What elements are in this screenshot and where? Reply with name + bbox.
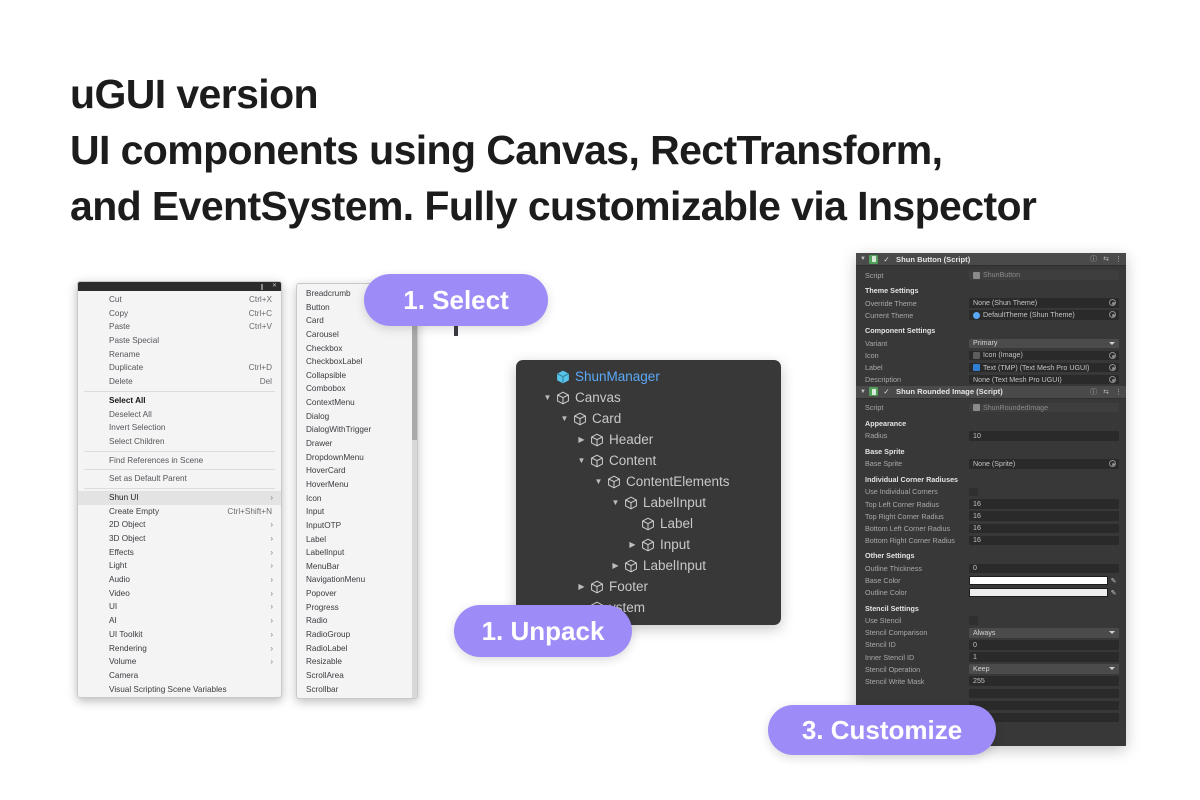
property-value[interactable]	[969, 689, 1119, 699]
object-picker-icon[interactable]	[1109, 299, 1116, 306]
menu-item-paste[interactable]: PasteCtrl+V	[78, 320, 281, 334]
property-row: LabelText (TMP) (Text Mesh Pro UGUI)	[856, 361, 1126, 373]
twisty-open-icon[interactable]: ▼	[860, 389, 869, 395]
menu-item-label: Set as Default Parent	[109, 474, 187, 483]
property-value[interactable]: Text (TMP) (Text Mesh Pro UGUI)	[969, 363, 1119, 373]
submenu-items: BreadcrumbButtonCardCarouselCheckboxChec…	[297, 284, 417, 699]
twisty-closed-icon[interactable]: ▶	[609, 555, 622, 576]
menu-item-label: 3D Object	[109, 534, 145, 543]
submenu-item-dialog[interactable]: Dialog	[297, 410, 417, 424]
chevron-down-icon[interactable]	[1109, 631, 1115, 634]
preset-icon[interactable]: ⇆	[1103, 388, 1109, 396]
property-value[interactable]: 1	[969, 652, 1119, 662]
object-picker-icon[interactable]	[1109, 311, 1116, 318]
object-picker-icon[interactable]	[1109, 460, 1116, 467]
submenu-item-popover[interactable]: Popover	[297, 587, 417, 601]
section-header: Other Settings	[856, 550, 1126, 562]
menu-item-set-as-default-parent[interactable]: Set as Default Parent	[78, 472, 281, 486]
property-value[interactable]: Icon (Image)	[969, 351, 1119, 361]
property-label: Icon	[865, 351, 969, 360]
menu-item-camera[interactable]: Camera	[78, 669, 281, 683]
menu-item-shortcut: Ctrl+C	[249, 307, 272, 321]
property-row: Base Color✎	[856, 575, 1126, 587]
hierarchy-row[interactable]: ▶LabelInput	[516, 555, 781, 576]
property-value[interactable]: 0	[969, 640, 1119, 650]
component-title: Shun Button (Script)	[896, 255, 970, 264]
hierarchy-row-label: Footer	[605, 576, 648, 597]
component-enabled-checkbox[interactable]: ✓	[882, 387, 891, 396]
hierarchy-row[interactable]: ShunManager	[516, 366, 781, 387]
menu-item-visual-scripting-scene-variables[interactable]: Visual Scripting Scene Variables	[78, 683, 281, 697]
menu-item-ai[interactable]: AI›	[78, 614, 281, 628]
context-menu-titlebar: ✕	[78, 282, 281, 291]
twisty-open-icon[interactable]: ▼	[575, 450, 588, 471]
chevron-right-icon: ›	[270, 518, 273, 532]
badge-select-label: 1. Select	[403, 285, 509, 316]
property-value-text: Primary	[973, 339, 997, 347]
menu-item-label: Select All	[109, 396, 146, 405]
shun-ui-submenu[interactable]: BreadcrumbButtonCardCarouselCheckboxChec…	[296, 283, 418, 699]
property-row: ScriptShunRoundedImage	[856, 402, 1126, 414]
submenu-item-resizable[interactable]: Resizable	[297, 655, 417, 669]
menu-item-duplicate[interactable]: DuplicateCtrl+D	[78, 361, 281, 375]
menu-item-shortcut: Ctrl+X	[249, 293, 272, 307]
menu-separator	[84, 451, 275, 452]
headline-line-1: uGUI version	[70, 66, 1150, 122]
hierarchy-row[interactable]: ▼Canvas	[516, 387, 781, 408]
chevron-down-icon[interactable]	[1109, 342, 1115, 345]
property-label: Stencil Operation	[865, 665, 969, 674]
menu-item-deselect-all[interactable]: Deselect All	[78, 408, 281, 422]
submenu-item-contextmenu[interactable]: ContextMenu	[297, 396, 417, 410]
submenu-item-labelinput[interactable]: LabelInput	[297, 546, 417, 560]
script-icon	[973, 404, 980, 411]
menu-item-select-children[interactable]: Select Children	[78, 435, 281, 449]
property-label: Stencil Comparison	[865, 628, 969, 637]
menu-item-label: UI Toolkit	[109, 630, 143, 639]
component-enabled-checkbox[interactable]: ✓	[882, 255, 891, 264]
menu-item-label: Shun UI	[109, 493, 139, 502]
property-value-text: Icon (Image)	[983, 351, 1023, 359]
property-checkbox[interactable]	[969, 488, 978, 497]
context-menu-items: CutCtrl+XCopyCtrl+CPasteCtrl+VPaste Spec…	[78, 291, 281, 696]
section-header: Stencil Settings	[856, 603, 1126, 615]
gameobject-cube-icon	[554, 391, 571, 405]
property-label: Top Left Corner Radius	[865, 500, 969, 509]
headline-line-2: UI components using Canvas, RectTransfor…	[70, 122, 1150, 178]
menu-item-effects[interactable]: Effects›	[78, 546, 281, 560]
submenu-item-navigationmenu[interactable]: NavigationMenu	[297, 573, 417, 587]
submenu-item-collapsible[interactable]: Collapsible	[297, 369, 417, 383]
property-label: Inner Stencil ID	[865, 653, 969, 662]
chevron-right-icon: ›	[270, 491, 273, 505]
more-options-icon[interactable]: ⋮	[1115, 388, 1122, 396]
object-picker-icon[interactable]	[1109, 352, 1116, 359]
submenu-item-checkboxlabel[interactable]: CheckboxLabel	[297, 355, 417, 369]
eyedropper-icon[interactable]: ✎	[1108, 589, 1119, 597]
component-body: ScriptShunButtonTheme SettingsOverride T…	[856, 266, 1126, 386]
drag-handle-icon[interactable]	[261, 284, 263, 290]
property-label: Bottom Left Corner Radius	[865, 524, 969, 533]
property-row: Inner Stencil ID1	[856, 651, 1126, 663]
property-value[interactable]: 10	[969, 431, 1119, 441]
badge-customize-label: 3. Customize	[802, 715, 962, 746]
more-options-icon[interactable]: ⋮	[1115, 255, 1122, 263]
badge-unpack: 1. Unpack	[454, 605, 632, 657]
property-label: Top Right Corner Radius	[865, 512, 969, 521]
color-swatch[interactable]	[969, 576, 1108, 585]
property-value[interactable]: ShunButton	[969, 270, 1119, 280]
property-value-text: 1	[973, 653, 977, 661]
submenu-item-hovercard[interactable]: HoverCard	[297, 464, 417, 478]
menu-item-cut[interactable]: CutCtrl+X	[78, 293, 281, 307]
property-value[interactable]: 16	[969, 499, 1119, 509]
gameobject-cube-icon	[622, 496, 639, 510]
menu-item-label: Find References in Scene	[109, 456, 203, 465]
menu-item-label: Volume	[109, 657, 136, 666]
menu-item-invert-selection[interactable]: Invert Selection	[78, 421, 281, 435]
gameobject-cube-icon	[605, 475, 622, 489]
menu-item-label: Select Children	[109, 437, 165, 446]
section-header: Base Sprite	[856, 446, 1126, 458]
property-value-text: 16	[973, 500, 981, 508]
menu-item-label: Rename	[109, 350, 140, 359]
property-value[interactable]: None (Text Mesh Pro UGUI)	[969, 375, 1119, 385]
menu-item-paste-special[interactable]: Paste Special	[78, 334, 281, 348]
property-label: Stencil ID	[865, 640, 969, 649]
property-value-text: 16	[973, 512, 981, 520]
property-label: Base Sprite	[865, 459, 969, 468]
hierarchy-row-label: Input	[656, 534, 690, 555]
gameobject-cube-icon	[571, 412, 588, 426]
menu-item-label: Audio	[109, 575, 130, 584]
menu-item-shortcut: Ctrl+V	[249, 320, 272, 334]
menu-item-label: Delete	[109, 377, 133, 386]
menu-item-label: UI	[109, 602, 117, 611]
chevron-right-icon: ›	[270, 642, 273, 656]
property-value-text: ShunButton	[983, 271, 1020, 279]
submenu-item-label[interactable]: Label	[297, 533, 417, 547]
hierarchy-row-label: Content	[605, 450, 656, 471]
menu-item-label: Duplicate	[109, 363, 143, 372]
twisty-open-icon[interactable]: ▼	[592, 471, 605, 492]
menu-item-rename[interactable]: Rename	[78, 348, 281, 362]
inspector-panel[interactable]: ▼✓Shun Button (Script)ⓘ⇆⋮ScriptShunButto…	[856, 253, 1126, 746]
gameobject-cube-icon	[639, 517, 656, 531]
property-row: Override ThemeNone (Shun Theme)	[856, 297, 1126, 309]
menu-item-copy[interactable]: CopyCtrl+C	[78, 307, 281, 321]
chevron-right-icon: ›	[270, 614, 273, 628]
eyedropper-icon[interactable]: ✎	[1108, 577, 1119, 585]
gameobject-cube-icon	[622, 559, 639, 573]
slide-canvas: uGUI version UI components using Canvas,…	[0, 0, 1200, 800]
menu-separator	[84, 469, 275, 470]
menu-item-find-references-in-scene[interactable]: Find References in Scene	[78, 454, 281, 468]
section-header: Individual Corner Radiuses	[856, 474, 1126, 486]
property-row: Top Right Corner Radius16	[856, 510, 1126, 522]
property-row: Stencil OperationKeep	[856, 663, 1126, 675]
property-label: Variant	[865, 339, 969, 348]
gameobject-cube-icon	[588, 580, 605, 594]
hierarchy-row-label: ContentElements	[622, 471, 730, 492]
property-value-text: 0	[973, 641, 977, 649]
menu-item-label: Copy	[109, 309, 128, 318]
submenu-item-progress[interactable]: Progress	[297, 601, 417, 615]
menu-item-label: Light	[109, 561, 127, 570]
property-value[interactable]: Keep	[969, 664, 1119, 674]
submenu-item-select[interactable]: Select	[297, 696, 417, 699]
img-icon	[973, 352, 980, 359]
menu-item-label: Video	[109, 589, 130, 598]
submenu-item-checkbox[interactable]: Checkbox	[297, 342, 417, 356]
hierarchy-row[interactable]: ▼Card	[516, 408, 781, 429]
submenu-item-icon[interactable]: Icon	[297, 492, 417, 506]
property-value-text: Always	[973, 629, 995, 637]
property-row: Base SpriteNone (Sprite)	[856, 458, 1126, 470]
menu-item-label: Deselect All	[109, 410, 152, 419]
property-value[interactable]: None (Shun Theme)	[969, 298, 1119, 308]
menu-separator	[84, 488, 275, 489]
hierarchy-row-label: Canvas	[571, 387, 621, 408]
property-label: Use Stencil	[865, 616, 969, 625]
property-row: Bottom Right Corner Radius16	[856, 534, 1126, 546]
property-value[interactable]: 255	[969, 676, 1119, 686]
property-value[interactable]: ShunRoundedImage	[969, 403, 1119, 413]
property-label: Base Color	[865, 576, 969, 585]
submenu-item-carousel[interactable]: Carousel	[297, 328, 417, 342]
twisty-open-icon[interactable]: ▼	[541, 387, 554, 408]
property-label: Use Individual Corners	[865, 487, 969, 496]
section-header: Theme Settings	[856, 285, 1126, 297]
menu-item-audio[interactable]: Audio›	[78, 573, 281, 587]
tmp-icon	[973, 364, 980, 371]
twisty-closed-icon[interactable]: ▶	[626, 534, 639, 555]
property-value[interactable]: 16	[969, 511, 1119, 521]
menu-item-label: Camera	[109, 671, 138, 680]
property-value-text: None (Shun Theme)	[973, 299, 1037, 307]
property-row: DescriptionNone (Text Mesh Pro UGUI)	[856, 374, 1126, 386]
property-row	[856, 687, 1126, 699]
property-value[interactable]: 16	[969, 536, 1119, 546]
object-picker-icon[interactable]	[1109, 364, 1116, 371]
property-label: Bottom Right Corner Radius	[865, 536, 969, 545]
menu-item-create-empty[interactable]: Create EmptyCtrl+Shift+N	[78, 505, 281, 519]
chevron-down-icon[interactable]	[1109, 667, 1115, 670]
property-row: VariantPrimary	[856, 337, 1126, 349]
twisty-closed-icon[interactable]: ▶	[575, 429, 588, 450]
submenu-item-scrollarea[interactable]: ScrollArea	[297, 669, 417, 683]
menu-item-label: Cut	[109, 295, 122, 304]
menu-item-label: 2D Object	[109, 520, 145, 529]
submenu-item-dialogwithtrigger[interactable]: DialogWithTrigger	[297, 423, 417, 437]
menu-item-rendering[interactable]: Rendering›	[78, 642, 281, 656]
help-icon[interactable]: ⓘ	[1090, 254, 1097, 264]
menu-item-label: Invert Selection	[109, 423, 165, 432]
menu-item-volume[interactable]: Volume›	[78, 655, 281, 669]
script-icon	[869, 387, 878, 396]
chevron-right-icon: ›	[270, 559, 273, 573]
help-icon[interactable]: ⓘ	[1090, 387, 1097, 397]
submenu-item-hovermenu[interactable]: HoverMenu	[297, 478, 417, 492]
component-header[interactable]: ▼✓Shun Button (Script)ⓘ⇆⋮	[856, 253, 1126, 266]
property-value-text: Keep	[973, 665, 990, 673]
chevron-right-icon: ›	[270, 532, 273, 546]
menu-item-label: Create Empty	[109, 507, 159, 516]
property-row: Outline Color✎	[856, 587, 1126, 599]
property-label: Label	[865, 363, 969, 372]
hierarchy-row-label: LabelInput	[639, 555, 706, 576]
close-icon[interactable]: ✕	[272, 283, 277, 290]
property-value[interactable]: DefaultTheme (Shun Theme)	[969, 310, 1119, 320]
theme-icon	[973, 312, 980, 319]
gameobject-cube-icon	[588, 433, 605, 447]
chevron-right-icon: ›	[270, 655, 273, 669]
hierarchy-row-label: Card	[588, 408, 621, 429]
property-row: Outline Thickness0	[856, 562, 1126, 574]
property-value-text: None (Sprite)	[973, 460, 1015, 468]
menu-item-label: Visual Scripting Scene Variables	[109, 685, 227, 694]
property-value-text: ShunRoundedImage	[983, 404, 1048, 412]
twisty-open-icon[interactable]: ▼	[860, 256, 869, 262]
menu-item-3d-object[interactable]: 3D Object›	[78, 532, 281, 546]
chevron-right-icon: ›	[270, 600, 273, 614]
hierarchy-row[interactable]: Label	[516, 513, 781, 534]
property-label: Script	[865, 271, 969, 280]
component-body: ScriptShunRoundedImageAppearanceRadius10…	[856, 399, 1126, 724]
hierarchy-row[interactable]: ▶Header	[516, 429, 781, 450]
badge-pointer	[454, 326, 458, 336]
menu-item-shun-ui[interactable]: Shun UI›	[78, 491, 281, 505]
property-value-text: 10	[973, 432, 981, 440]
script-icon	[869, 255, 878, 264]
hierarchy-row[interactable]: ▼LabelInput	[516, 492, 781, 513]
component-header[interactable]: ▼✓Shun Rounded Image (Script)ⓘ⇆⋮	[856, 386, 1126, 399]
property-row: IconIcon (Image)	[856, 349, 1126, 361]
property-label: Current Theme	[865, 311, 969, 320]
property-label: Radius	[865, 431, 969, 440]
property-value[interactable]: Always	[969, 628, 1119, 638]
menu-item-shortcut: Del	[260, 375, 272, 389]
chevron-right-icon: ›	[270, 587, 273, 601]
property-label: Outline Thickness	[865, 564, 969, 573]
submenu-item-radiolabel[interactable]: RadioLabel	[297, 642, 417, 656]
hierarchy-row-label: Header	[605, 429, 653, 450]
property-value[interactable]: 16	[969, 524, 1119, 534]
menu-item-ui[interactable]: UI›	[78, 600, 281, 614]
property-label: Description	[865, 375, 969, 384]
hierarchy-panel[interactable]: ShunManager▼Canvas▼Card▶Header▼Content▼C…	[516, 360, 781, 625]
property-value[interactable]: Primary	[969, 339, 1119, 349]
property-value[interactable]: 0	[969, 564, 1119, 574]
script-icon	[973, 272, 980, 279]
property-checkbox[interactable]	[969, 616, 978, 625]
twisty-open-icon[interactable]: ▼	[558, 408, 571, 429]
menu-item-label: AI	[109, 616, 117, 625]
hierarchy-row[interactable]: ▶Footer	[516, 576, 781, 597]
menu-item-light[interactable]: Light›	[78, 559, 281, 573]
submenu-item-input[interactable]: Input	[297, 505, 417, 519]
twisty-open-icon[interactable]: ▼	[609, 492, 622, 513]
menu-item-shortcut: Ctrl+Shift+N	[227, 505, 272, 519]
badge-unpack-label: 1. Unpack	[482, 616, 605, 647]
twisty-closed-icon[interactable]: ▶	[575, 576, 588, 597]
property-value-text: 16	[973, 524, 981, 532]
menu-item-label: Paste	[109, 322, 130, 331]
submenu-item-radiogroup[interactable]: RadioGroup	[297, 628, 417, 642]
submenu-item-scrollbar[interactable]: Scrollbar	[297, 683, 417, 697]
preset-icon[interactable]: ⇆	[1103, 255, 1109, 263]
menu-item-select-all[interactable]: Select All	[78, 394, 281, 408]
hierarchy-row-label: Label	[656, 513, 693, 534]
gameobject-cube-icon	[639, 538, 656, 552]
property-value[interactable]	[969, 701, 1119, 711]
property-value-text: None (Text Mesh Pro UGUI)	[973, 376, 1062, 384]
property-row: Bottom Left Corner Radius16	[856, 522, 1126, 534]
menu-item-label: Rendering	[109, 644, 147, 653]
menu-item-label: Paste Special	[109, 336, 159, 345]
chevron-right-icon: ›	[270, 573, 273, 587]
property-value-text: 0	[973, 564, 977, 572]
badge-customize: 3. Customize	[768, 705, 996, 755]
property-row: Radius10	[856, 430, 1126, 442]
submenu-item-inputotp[interactable]: InputOTP	[297, 519, 417, 533]
gameobject-cube-icon	[554, 370, 571, 384]
submenu-item-combobox[interactable]: Combobox	[297, 382, 417, 396]
menu-item-delete[interactable]: DeleteDel	[78, 375, 281, 389]
page-title: uGUI version UI components using Canvas,…	[70, 66, 1150, 234]
menu-item-ui-toolkit[interactable]: UI Toolkit›	[78, 628, 281, 642]
section-header: Appearance	[856, 418, 1126, 430]
property-label: Script	[865, 403, 969, 412]
badge-select: 1. Select	[364, 274, 548, 326]
component-title: Shun Rounded Image (Script)	[896, 387, 1003, 396]
headline-line-3: and EventSystem. Fully customizable via …	[70, 178, 1150, 234]
hierarchy-row-label: ShunManager	[571, 366, 660, 387]
section-header: Component Settings	[856, 325, 1126, 337]
submenu-scrollbar[interactable]	[412, 284, 417, 698]
menu-item-2d-object[interactable]: 2D Object›	[78, 518, 281, 532]
submenu-item-radio[interactable]: Radio	[297, 614, 417, 628]
hierarchy-row[interactable]: ▼Content	[516, 450, 781, 471]
hierarchy-row-label: LabelInput	[639, 492, 706, 513]
object-picker-icon[interactable]	[1109, 376, 1116, 383]
menu-item-video[interactable]: Video›	[78, 587, 281, 601]
menu-item-label: Effects	[109, 548, 134, 557]
color-swatch[interactable]	[969, 588, 1108, 597]
chevron-right-icon: ›	[270, 546, 273, 560]
hierarchy-row[interactable]: ▶Input	[516, 534, 781, 555]
property-value-text: 255	[973, 677, 985, 685]
property-value[interactable]: None (Sprite)	[969, 459, 1119, 469]
property-row: Stencil ComparisonAlways	[856, 627, 1126, 639]
property-label: Outline Color	[865, 588, 969, 597]
property-row: ScriptShunButton	[856, 269, 1126, 281]
submenu-item-dropdownmenu[interactable]: DropdownMenu	[297, 451, 417, 465]
submenu-item-drawer[interactable]: Drawer	[297, 437, 417, 451]
property-value-text: 16	[973, 536, 981, 544]
submenu-item-menubar[interactable]: MenuBar	[297, 560, 417, 574]
property-value-text: DefaultTheme (Shun Theme)	[983, 311, 1075, 319]
menu-separator	[84, 391, 275, 392]
property-row: Stencil ID0	[856, 639, 1126, 651]
unity-context-menu[interactable]: ✕ CutCtrl+XCopyCtrl+CPasteCtrl+VPaste Sp…	[77, 281, 282, 698]
property-row: Top Left Corner Radius16	[856, 498, 1126, 510]
property-label: Override Theme	[865, 299, 969, 308]
property-row: Use Stencil	[856, 615, 1126, 627]
hierarchy-row[interactable]: ▼ContentElements	[516, 471, 781, 492]
chevron-right-icon: ›	[270, 628, 273, 642]
gameobject-cube-icon	[588, 454, 605, 468]
